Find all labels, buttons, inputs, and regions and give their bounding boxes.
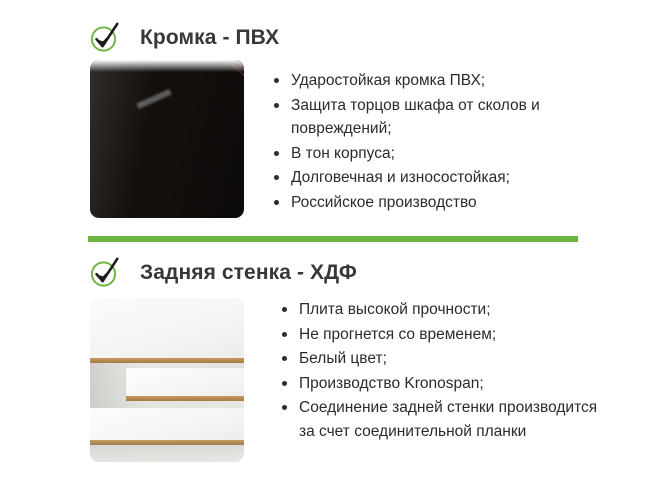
photo-top-fade — [90, 60, 244, 72]
list-item: Соединение задней стенки производится за… — [280, 396, 610, 443]
pvc-feature-list: Ударостойкая кромка ПВХ; Защита торцов ш… — [272, 69, 602, 215]
green-check-circle-icon — [88, 255, 122, 289]
section-pvc: Кромка - ПВХ — [0, 0, 652, 232]
list-item: Российское производство — [272, 191, 602, 215]
section-pvc-title: Кромка - ПВХ — [140, 27, 279, 48]
pvc-edge-banding-art — [90, 60, 244, 218]
section-hdf: Задняя стенка - ХДФ Плита высокой прочно… — [0, 248, 652, 500]
list-item: В тон корпуса; — [272, 142, 602, 166]
green-divider — [88, 236, 578, 242]
hdf-feature-list: Плита высокой прочности; Не прогнется со… — [280, 298, 610, 444]
list-item: Долговечная и износостойкая; — [272, 166, 602, 190]
green-check-circle-icon — [88, 20, 122, 54]
hdf-back-panel-photo — [90, 298, 244, 462]
list-item: Ударостойкая кромка ПВХ; — [272, 69, 602, 93]
list-item: Не прогнется со временем; — [280, 323, 610, 347]
section-hdf-heading: Задняя стенка - ХДФ — [88, 255, 357, 289]
list-item: Плита высокой прочности; — [280, 298, 610, 322]
list-item: Белый цвет; — [280, 347, 610, 371]
hdf-panel-middle — [126, 368, 244, 396]
list-item: Защита торцов шкафа от сколов и поврежде… — [272, 94, 602, 141]
hdf-panel-bottom — [90, 408, 244, 440]
section-pvc-heading: Кромка - ПВХ — [88, 20, 279, 54]
edge-coil-dark — [90, 60, 244, 218]
hdf-panel-top — [90, 298, 244, 358]
hdf-panel-stack-art — [90, 298, 244, 462]
feature-list-page: Кромка - ПВХ — [0, 0, 652, 500]
pvc-edge-banding-photo — [90, 60, 244, 218]
panel-shadow-bottom — [90, 442, 244, 462]
list-item: Производство Kronospan; — [280, 372, 610, 396]
section-hdf-title: Задняя стенка - ХДФ — [140, 262, 357, 283]
